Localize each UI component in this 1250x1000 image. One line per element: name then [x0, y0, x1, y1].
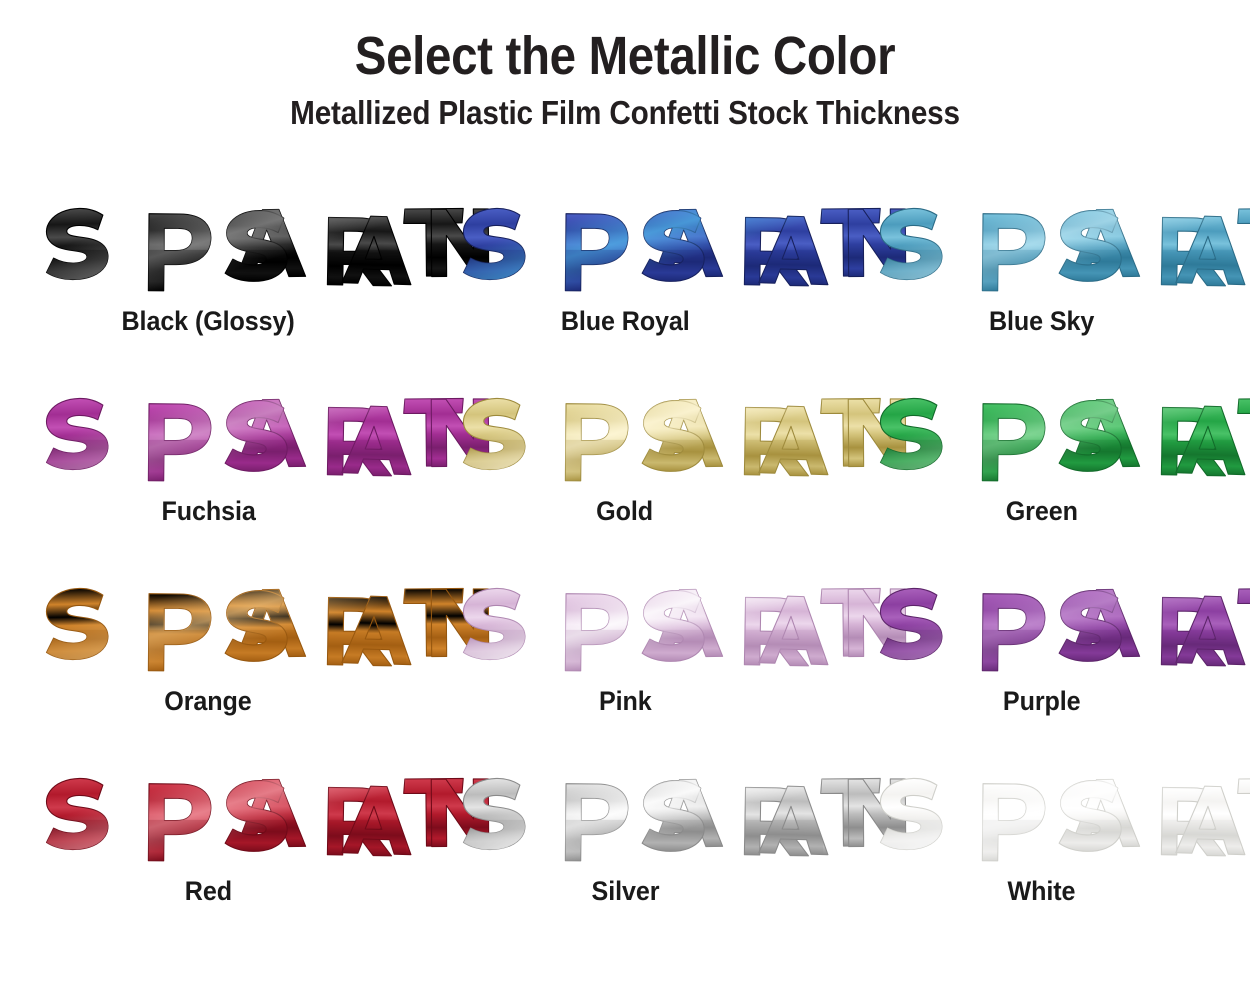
color-swatch-silver[interactable]: Silver	[417, 766, 834, 956]
page-subtitle: Metallized Plastic Film Confetti Stock T…	[63, 95, 1188, 131]
wordart-specular-highlight	[851, 180, 1240, 316]
color-swatch-pink[interactable]: Pink	[417, 576, 834, 766]
wordart-specular-highlight	[435, 370, 824, 506]
spartans-wordart	[37, 198, 379, 290]
color-swatch-label: White	[1008, 876, 1076, 907]
wordart-sample[interactable]	[867, 386, 1217, 482]
color-swatch-label: Pink	[599, 686, 652, 717]
spartans-wordart	[871, 388, 1213, 480]
wordart-specular-highlight	[18, 750, 407, 886]
wordart-bottom-shade	[851, 820, 1240, 878]
color-swatch-white[interactable]: White	[833, 766, 1250, 956]
wordart-sample[interactable]	[450, 576, 800, 672]
metallic-color-selection-page: Select the Metallic Color Metallized Pla…	[0, 0, 1250, 1000]
color-swatch-purple[interactable]: Purple	[833, 576, 1250, 766]
wordart-bottom-shade	[435, 820, 824, 878]
color-swatch-label: Blue Sky	[989, 306, 1094, 337]
wordart-bottom-shade	[18, 440, 407, 498]
spartans-wordart	[454, 768, 796, 860]
color-swatch-label: Orange	[165, 686, 252, 717]
color-swatch-label: Black (Glossy)	[122, 306, 295, 337]
wordart-bottom-shade	[851, 440, 1240, 498]
color-swatch-gold[interactable]: Gold	[417, 386, 834, 576]
wordart-specular-highlight	[851, 370, 1240, 506]
wordart-bottom-shade	[18, 820, 407, 878]
spartans-wordart	[37, 578, 379, 670]
wordart-sample[interactable]	[33, 576, 383, 672]
spartans-wordart	[37, 768, 379, 860]
spartans-wordart	[871, 198, 1213, 290]
wordart-sample[interactable]	[867, 766, 1217, 862]
wordart-specular-highlight	[18, 560, 407, 696]
page-title: Select the Metallic Color	[75, 28, 1175, 85]
wordart-bottom-shade	[435, 630, 824, 688]
wordart-sample[interactable]	[33, 766, 383, 862]
wordart-bottom-shade	[435, 440, 824, 498]
spartans-wordart	[871, 578, 1213, 670]
wordart-sample[interactable]	[33, 196, 383, 292]
wordart-specular-highlight	[435, 750, 824, 886]
color-swatch-blue-sky[interactable]: Blue Sky	[833, 196, 1250, 386]
color-swatch-black-glossy[interactable]: Black (Glossy)	[0, 196, 417, 386]
spartans-wordart	[454, 578, 796, 670]
wordart-specular-highlight	[18, 370, 407, 506]
color-swatch-blue-royal[interactable]: Blue Royal	[417, 196, 834, 386]
wordart-sample[interactable]	[450, 196, 800, 292]
wordart-specular-highlight	[435, 560, 824, 696]
color-swatch-label: Red	[185, 876, 232, 907]
wordart-sample[interactable]	[867, 576, 1217, 672]
spartans-wordart	[454, 198, 796, 290]
color-swatch-label: Fuchsia	[161, 496, 255, 527]
color-swatch-label: Purple	[1003, 686, 1081, 717]
page-header: Select the Metallic Color Metallized Pla…	[0, 0, 1250, 131]
wordart-sample[interactable]	[33, 386, 383, 482]
wordart-specular-highlight	[851, 750, 1240, 886]
color-swatch-label: Blue Royal	[561, 306, 690, 337]
wordart-bottom-shade	[851, 630, 1240, 688]
spartans-wordart	[871, 768, 1213, 860]
wordart-specular-highlight	[18, 180, 407, 316]
wordart-specular-highlight	[851, 560, 1240, 696]
wordart-bottom-shade	[851, 250, 1240, 308]
spartans-wordart	[37, 388, 379, 480]
wordart-specular-highlight	[435, 180, 824, 316]
wordart-bottom-shade	[18, 250, 407, 308]
color-swatch-orange[interactable]: Orange	[0, 576, 417, 766]
wordart-bottom-shade	[18, 630, 407, 688]
color-swatch-grid: Black (Glossy)Blue RoyalBlue SkyFuchsiaG…	[0, 196, 1250, 956]
wordart-bottom-shade	[435, 250, 824, 308]
color-swatch-red[interactable]: Red	[0, 766, 417, 956]
color-swatch-green[interactable]: Green	[833, 386, 1250, 576]
color-swatch-label: Silver	[591, 876, 659, 907]
color-swatch-label: Green	[1006, 496, 1078, 527]
wordart-sample[interactable]	[450, 766, 800, 862]
color-swatch-fuchsia[interactable]: Fuchsia	[0, 386, 417, 576]
spartans-wordart	[454, 388, 796, 480]
wordart-sample[interactable]	[450, 386, 800, 482]
color-swatch-label: Gold	[597, 496, 654, 527]
wordart-sample[interactable]	[867, 196, 1217, 292]
